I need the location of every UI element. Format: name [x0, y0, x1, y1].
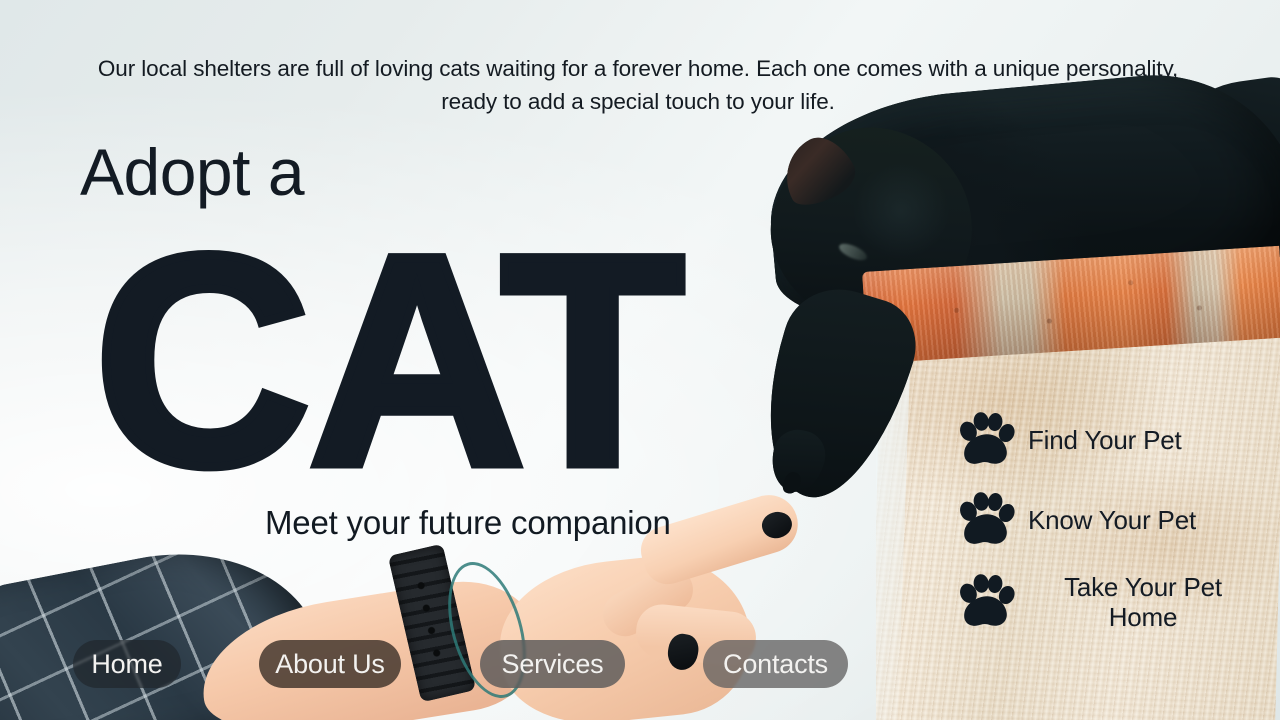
- tagline: Meet your future companion: [265, 504, 671, 542]
- paw-print-icon: [958, 574, 1016, 630]
- paw-print-icon: [958, 412, 1016, 468]
- list-item[interactable]: Know Your Pet: [958, 492, 1258, 548]
- intro-paragraph: Our local shelters are full of loving ca…: [88, 52, 1188, 119]
- page-title: CAT: [94, 210, 682, 510]
- feature-list: Find Your Pet Know Your Pet: [958, 412, 1258, 632]
- list-item[interactable]: Find Your Pet: [958, 412, 1258, 468]
- nav-item-services[interactable]: Services: [480, 640, 625, 688]
- paw-print-icon: [958, 492, 1016, 548]
- hero-poster: Our local shelters are full of loving ca…: [0, 0, 1280, 720]
- list-item[interactable]: Take Your Pet Home: [958, 572, 1258, 632]
- nav-item-home[interactable]: Home: [73, 640, 181, 688]
- nav-item-contacts[interactable]: Contacts: [703, 640, 848, 688]
- main-navigation: Home About Us Services Contacts: [0, 640, 1280, 690]
- feature-label: Take Your Pet Home: [1028, 572, 1258, 632]
- feature-label: Know Your Pet: [1028, 505, 1196, 535]
- nav-item-about-us[interactable]: About Us: [259, 640, 401, 688]
- feature-label: Find Your Pet: [1028, 425, 1182, 455]
